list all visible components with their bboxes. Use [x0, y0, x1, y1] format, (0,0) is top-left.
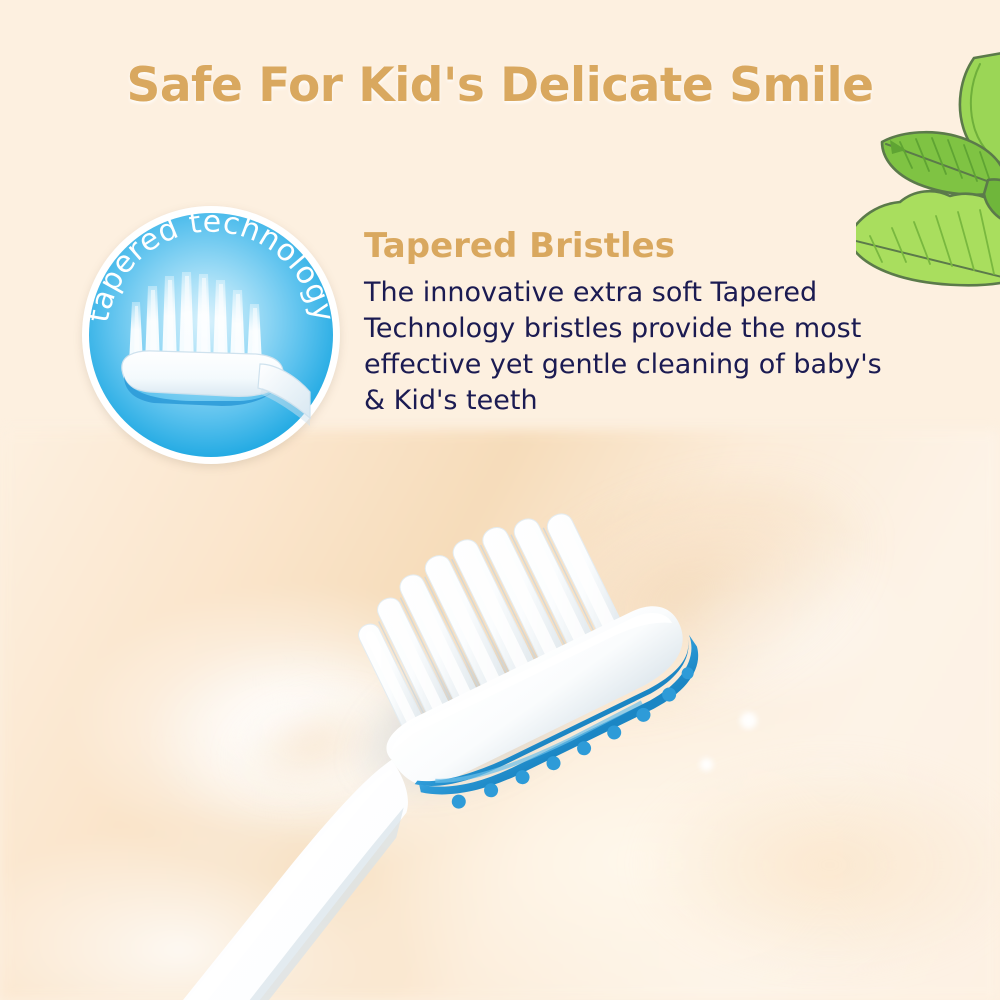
- tapered-technology-badge: tapered technology: [82, 206, 340, 464]
- page-title: Safe For Kid's Delicate Smile: [0, 58, 1000, 113]
- marketing-banner: Safe For Kid's Delicate Smile: [0, 0, 1000, 1000]
- feature-heading: Tapered Bristles: [364, 228, 904, 265]
- badge-curved-text: tapered technology: [82, 206, 340, 464]
- feature-block: Tapered Bristles The innovative extra so…: [364, 228, 904, 419]
- feature-body-text: The innovative extra soft Tapered Techno…: [364, 275, 904, 419]
- toothbrush-product-image: [0, 500, 740, 1000]
- svg-text:tapered technology: tapered technology: [82, 206, 340, 325]
- bokeh-dot: [740, 712, 757, 729]
- badge-caption: tapered technology: [82, 206, 340, 325]
